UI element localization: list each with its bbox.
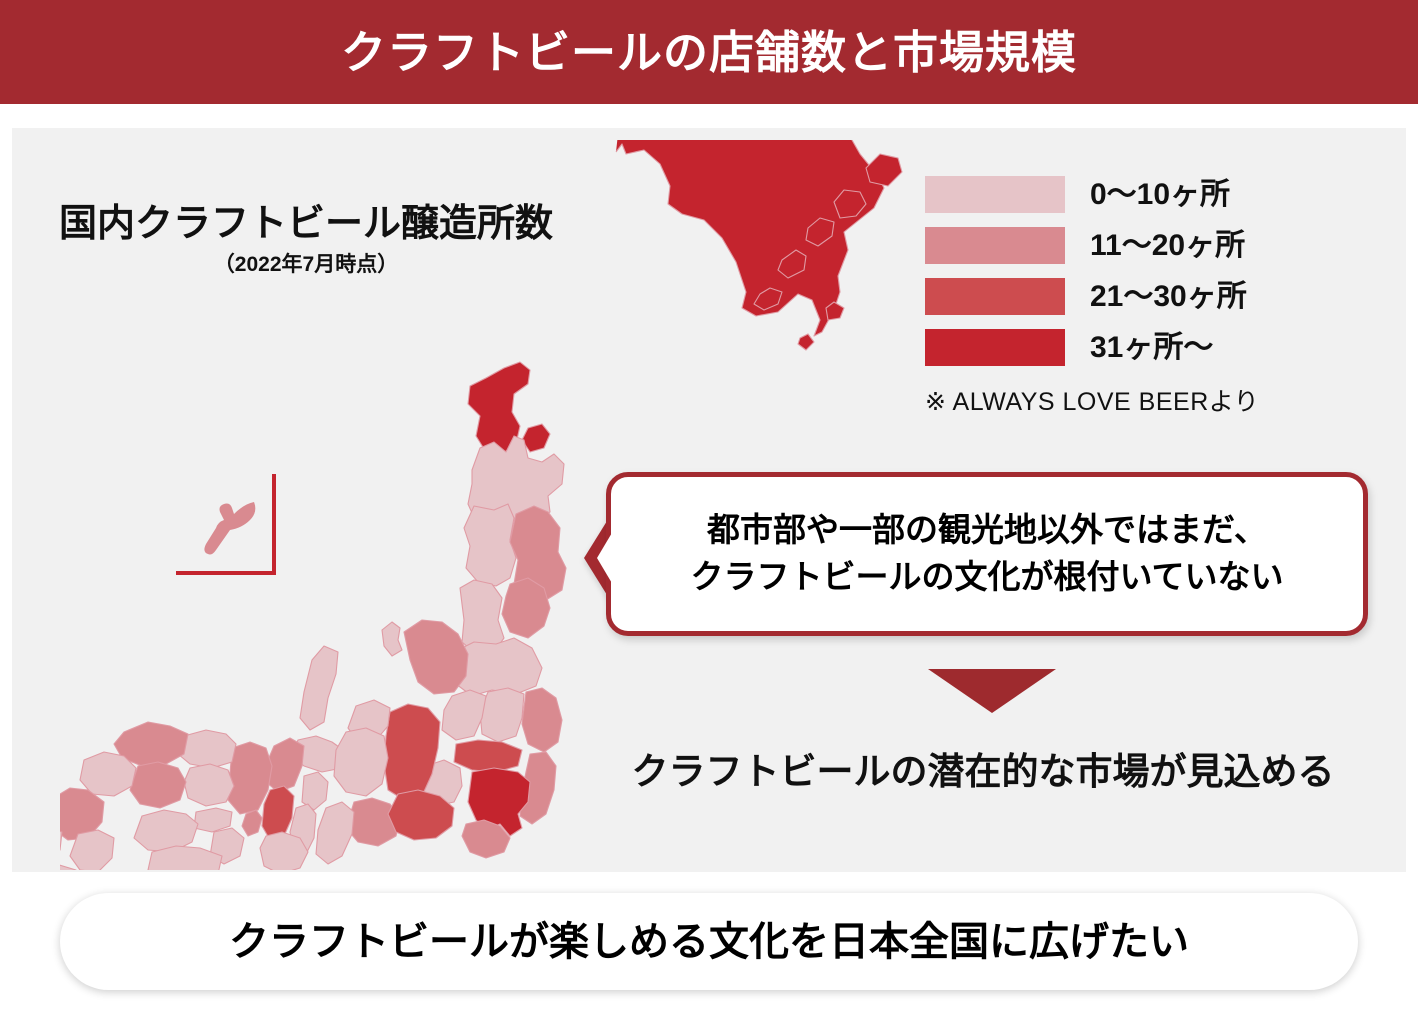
region-kurils-5 xyxy=(866,154,902,186)
callout-tail-fill xyxy=(597,521,619,595)
legend-item: 21〜30ヶ所 xyxy=(925,276,1325,317)
region-miyagi xyxy=(502,578,550,638)
region-kagawa xyxy=(194,808,232,832)
region-osaka xyxy=(262,786,294,840)
map-legend: 0〜10ヶ所 11〜20ヶ所 21〜30ヶ所 31ヶ所〜 ※ ALWAYS LO… xyxy=(925,174,1325,418)
region-mie xyxy=(316,802,354,864)
callout-text: 都市部や一部の観光地以外ではまだ、 クラフトビールの文化が根付いていない xyxy=(676,507,1297,601)
legend-swatch-11-20 xyxy=(925,227,1065,264)
region-hokkaido xyxy=(616,140,884,336)
region-gifu xyxy=(334,728,388,796)
legend-swatch-21-30 xyxy=(925,278,1065,315)
region-saitama xyxy=(454,740,522,772)
legend-label-0-10: 0〜10ヶ所 xyxy=(1090,180,1230,210)
legend-item: 31ヶ所〜 xyxy=(925,327,1325,368)
region-niigata xyxy=(404,620,468,694)
bottom-message-pill: クラフトビールが楽しめる文化を日本全国に広げたい xyxy=(60,893,1358,990)
infographic-root: クラフトビールの店舗数と市場規模 国内クラフトビール醸造所数 （2022年7月時… xyxy=(0,0,1418,1015)
legend-item: 0〜10ヶ所 xyxy=(925,174,1325,215)
conclusion-text: クラフトビールの潜在的な市場が見込める xyxy=(577,750,1389,794)
region-okayama xyxy=(184,764,234,806)
header-bar: クラフトビールの店舗数と市場規模 xyxy=(0,0,1418,104)
legend-label-11-20: 11〜20ヶ所 xyxy=(1090,231,1245,261)
region-tochigi xyxy=(480,688,524,742)
region-kurils-7 xyxy=(798,334,814,350)
legend-item: 11〜20ヶ所 xyxy=(925,225,1325,266)
region-ehime xyxy=(134,810,198,852)
bottom-message-text: クラフトビールが楽しめる文化を日本全国に広げたい xyxy=(229,922,1189,962)
region-fukushima xyxy=(456,638,542,696)
region-ishikawa xyxy=(300,646,338,730)
legend-source-note: ※ ALWAYS LOVE BEERより xyxy=(925,382,1325,418)
legend-label-31-plus: 31ヶ所〜 xyxy=(1090,333,1213,363)
legend-swatch-31-plus xyxy=(925,329,1065,366)
legend-swatch-0-10 xyxy=(925,176,1065,213)
region-okinawa xyxy=(196,492,266,562)
region-awaji xyxy=(242,810,262,836)
callout-bubble: 都市部や一部の観光地以外ではまだ、 クラフトビールの文化が根付いていない xyxy=(606,472,1368,636)
region-gunma xyxy=(442,690,486,740)
region-ibaraki xyxy=(522,688,562,752)
region-sado xyxy=(382,622,402,656)
region-hiroshima xyxy=(130,762,186,808)
legend-label-21-30: 21〜30ヶ所 xyxy=(1090,282,1247,312)
triangle-down-icon xyxy=(928,669,1056,713)
page-title: クラフトビールの店舗数と市場規模 xyxy=(341,30,1077,75)
region-akita xyxy=(464,504,516,586)
